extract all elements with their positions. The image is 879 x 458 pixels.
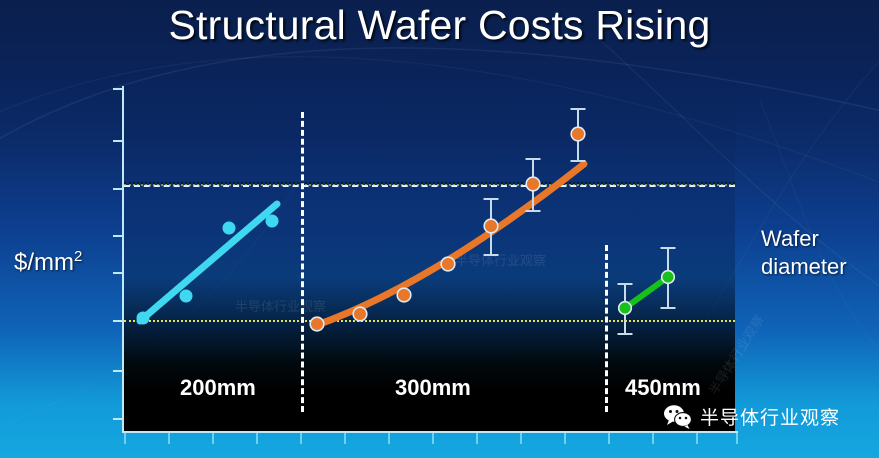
x-axis-tick-7 [432, 433, 434, 444]
error-bar-cap-300mm-4-1 [484, 254, 499, 256]
slide-root: Structural Wafer Costs Rising 半导体行业观察 半导… [0, 0, 879, 458]
data-point-450mm-1 [663, 272, 674, 283]
data-point-300mm-2 [398, 289, 410, 301]
x-axis-title-line2: diameter [761, 253, 847, 281]
gridline-yellow-upper [124, 184, 735, 186]
error-bar-cap-300mm-5-0 [526, 158, 541, 160]
data-point-300mm-6 [572, 128, 584, 140]
data-point-200mm-0 [137, 312, 150, 325]
data-point-300mm-5 [527, 178, 539, 190]
y-axis-tick-7 [113, 418, 124, 420]
x-axis-title-line1: Wafer [761, 225, 847, 253]
data-point-200mm-2 [223, 222, 236, 235]
y-axis-label-text: $/mm [14, 249, 74, 276]
error-bar-cap-450mm-1-0 [661, 247, 676, 249]
x-axis-tick-0 [124, 433, 126, 444]
data-point-450mm-0 [620, 303, 631, 314]
x-axis-tick-13 [696, 433, 698, 444]
error-bar-cap-450mm-0-1 [618, 333, 633, 335]
y-axis-tick-1 [113, 140, 124, 142]
x-axis-tick-14 [736, 433, 738, 444]
x-axis-tick-9 [520, 433, 522, 444]
x-axis-tick-6 [388, 433, 390, 444]
x-axis-title: Wafer diameter [761, 225, 847, 281]
x-axis-tick-2 [212, 433, 214, 444]
error-bar-cap-300mm-6-1 [571, 160, 586, 162]
wechat-icon [663, 404, 693, 430]
x-axis-tick-3 [256, 433, 258, 444]
x-axis-tick-11 [608, 433, 610, 444]
x-axis-tick-8 [476, 433, 478, 444]
y-axis-label-superscript: 2 [74, 248, 82, 265]
segment-divider-200-300 [301, 112, 304, 412]
error-bar-cap-300mm-5-1 [526, 210, 541, 212]
y-axis-tick-2 [113, 188, 124, 190]
y-axis-tick-0 [113, 88, 124, 90]
data-point-300mm-3 [442, 258, 454, 270]
error-bar-cap-300mm-6-0 [571, 108, 586, 110]
y-axis-line [122, 86, 124, 433]
data-point-300mm-1 [354, 308, 366, 320]
x-axis-line [122, 431, 738, 433]
page-title: Structural Wafer Costs Rising [0, 2, 879, 49]
x-axis-tick-12 [652, 433, 654, 444]
watermark: 半导体行业观察 [663, 403, 840, 430]
segment-label-300mm: 300mm [395, 375, 471, 401]
error-bar-cap-450mm-0-0 [618, 283, 633, 285]
x-axis-tick-10 [564, 433, 566, 444]
x-axis-tick-1 [168, 433, 170, 444]
y-axis-label: $/mm2 [14, 248, 82, 277]
y-axis-tick-6 [113, 370, 124, 372]
segment-label-200mm: 200mm [180, 375, 256, 401]
x-axis-tick-5 [344, 433, 346, 444]
y-axis-tick-4 [113, 272, 124, 274]
segment-divider-300-450 [605, 245, 608, 412]
watermark-text: 半导体行业观察 [700, 403, 840, 430]
error-bar-cap-300mm-4-0 [484, 198, 499, 200]
data-point-200mm-1 [180, 290, 193, 303]
data-point-200mm-3 [266, 215, 279, 228]
data-point-300mm-0 [311, 318, 323, 330]
data-point-300mm-4 [485, 220, 497, 232]
x-axis-tick-4 [300, 433, 302, 444]
gridline-yellow-baseline [124, 320, 735, 322]
error-bar-cap-450mm-1-1 [661, 307, 676, 309]
segment-label-450mm: 450mm [625, 375, 701, 401]
y-axis-tick-3 [113, 235, 124, 237]
y-axis-tick-5 [113, 320, 124, 322]
